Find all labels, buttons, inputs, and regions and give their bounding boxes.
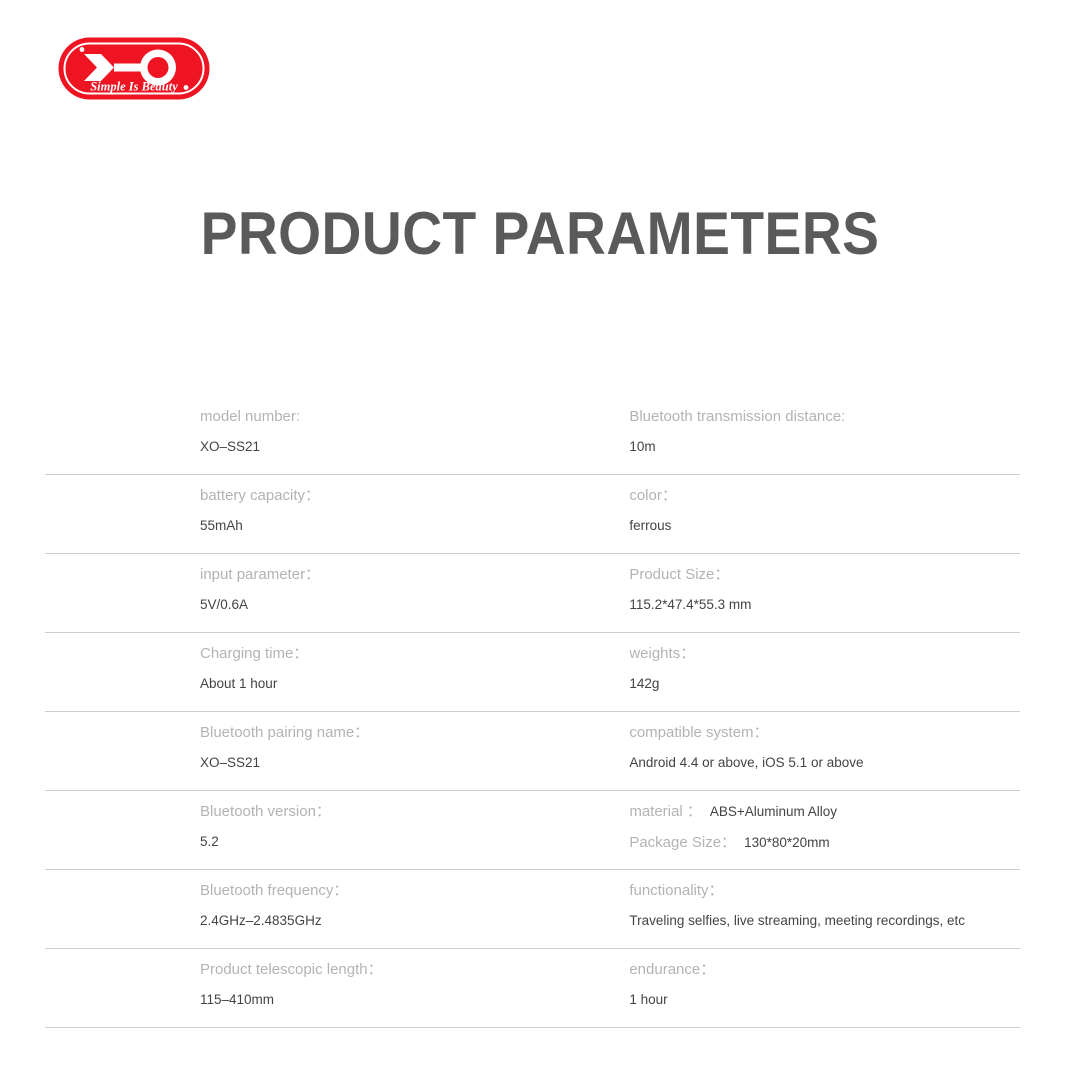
spec-value: 5V/0.6A bbox=[200, 596, 475, 614]
spec-row: battery capacity： 55mAh color： ferrous bbox=[45, 475, 1020, 554]
spec-label: compatible system： bbox=[629, 723, 1020, 743]
spec-value: 130*80*20mm bbox=[744, 834, 830, 852]
spec-value: Traveling selfies, live streaming, meeti… bbox=[629, 912, 1020, 930]
spec-cell-left: battery capacity： 55mAh bbox=[45, 475, 475, 553]
spec-label: Package Size： bbox=[629, 833, 736, 853]
spec-value: 5.2 bbox=[200, 833, 475, 851]
spec-cell-left: Bluetooth frequency： 2.4GHz–2.4835GHz bbox=[45, 870, 475, 948]
spec-cell-left: Bluetooth version： 5.2 bbox=[45, 791, 475, 869]
spec-cell-right: Product Size： 115.2*47.4*55.3 mm bbox=[629, 554, 1020, 632]
spec-cell-right: functionality： Traveling selfies, live s… bbox=[629, 870, 1020, 948]
spec-row: Bluetooth frequency： 2.4GHz–2.4835GHz fu… bbox=[45, 870, 1020, 949]
xo-logo-graphic: Simple Is Beauty bbox=[57, 36, 211, 101]
spec-label: Product telescopic length： bbox=[200, 960, 475, 980]
spec-row: Bluetooth version： 5.2 material ： ABS+Al… bbox=[45, 791, 1020, 870]
spec-cell-right: endurance： 1 hour bbox=[629, 949, 1020, 1027]
product-parameters-page: Simple Is Beauty PRODUCT PARAMETERS mode… bbox=[0, 0, 1080, 1080]
spec-row: Charging time： About 1 hour weights： 142… bbox=[45, 633, 1020, 712]
spec-cell-left: input parameter： 5V/0.6A bbox=[45, 554, 475, 632]
spec-label: input parameter： bbox=[200, 565, 475, 585]
spec-value: 2.4GHz–2.4835GHz bbox=[200, 912, 475, 930]
spec-label: material ： bbox=[629, 802, 702, 822]
spec-value: 10m bbox=[629, 438, 1020, 456]
spec-value: 115–410mm bbox=[200, 991, 475, 1009]
spec-value: 142g bbox=[629, 675, 1020, 693]
spec-label: Product Size： bbox=[629, 565, 1020, 585]
spec-row: Bluetooth pairing name： XO–SS21 compatib… bbox=[45, 712, 1020, 791]
spec-inline-material: material ： ABS+Aluminum Alloy bbox=[629, 802, 1020, 822]
spec-value: 115.2*47.4*55.3 mm bbox=[629, 596, 1020, 614]
spec-label: Bluetooth pairing name： bbox=[200, 723, 475, 743]
spec-cell-right: Bluetooth transmission distance: 10m bbox=[629, 396, 1020, 474]
spec-cell-left: Bluetooth pairing name： XO–SS21 bbox=[45, 712, 475, 790]
spec-value: 55mAh bbox=[200, 517, 475, 535]
spec-value: Android 4.4 or above, iOS 5.1 or above bbox=[629, 754, 1020, 772]
spec-inline-package-size: Package Size： 130*80*20mm bbox=[629, 833, 1020, 853]
xo-logo: Simple Is Beauty bbox=[57, 36, 211, 101]
spec-label: model number: bbox=[200, 407, 475, 427]
spec-cell-left: Charging time： About 1 hour bbox=[45, 633, 475, 711]
spec-label: endurance： bbox=[629, 960, 1020, 980]
spec-label: color： bbox=[629, 486, 1020, 506]
spec-value: XO–SS21 bbox=[200, 438, 475, 456]
spec-label: Bluetooth frequency： bbox=[200, 881, 475, 901]
spec-cell-right: material ： ABS+Aluminum Alloy Package Si… bbox=[629, 791, 1020, 869]
spec-label: functionality： bbox=[629, 881, 1020, 901]
spec-cell-right: compatible system： Android 4.4 or above,… bbox=[629, 712, 1020, 790]
spec-value: ferrous bbox=[629, 517, 1020, 535]
spec-cell-left: Product telescopic length： 115–410mm bbox=[45, 949, 475, 1027]
spec-row: input parameter： 5V/0.6A Product Size： 1… bbox=[45, 554, 1020, 633]
spec-row: model number: XO–SS21 Bluetooth transmis… bbox=[45, 396, 1020, 475]
spec-value: ABS+Aluminum Alloy bbox=[710, 803, 837, 821]
spec-cell-right: weights： 142g bbox=[629, 633, 1020, 711]
spec-cell-right: color： ferrous bbox=[629, 475, 1020, 553]
spec-table: model number: XO–SS21 Bluetooth transmis… bbox=[45, 396, 1020, 1028]
spec-row: Product telescopic length： 115–410mm end… bbox=[45, 949, 1020, 1028]
spec-label: battery capacity： bbox=[200, 486, 475, 506]
spec-value: XO–SS21 bbox=[200, 754, 475, 772]
spec-label: Bluetooth version： bbox=[200, 802, 475, 822]
spec-label: Charging time： bbox=[200, 644, 475, 664]
page-title: PRODUCT PARAMETERS bbox=[43, 198, 1037, 270]
spec-value: About 1 hour bbox=[200, 675, 475, 693]
spec-cell-left: model number: XO–SS21 bbox=[45, 396, 475, 474]
spec-value: 1 hour bbox=[629, 991, 1020, 1009]
spec-label: weights： bbox=[629, 644, 1020, 664]
logo-tagline-text: Simple Is Beauty bbox=[90, 80, 178, 94]
spec-label: Bluetooth transmission distance: bbox=[629, 407, 1020, 427]
